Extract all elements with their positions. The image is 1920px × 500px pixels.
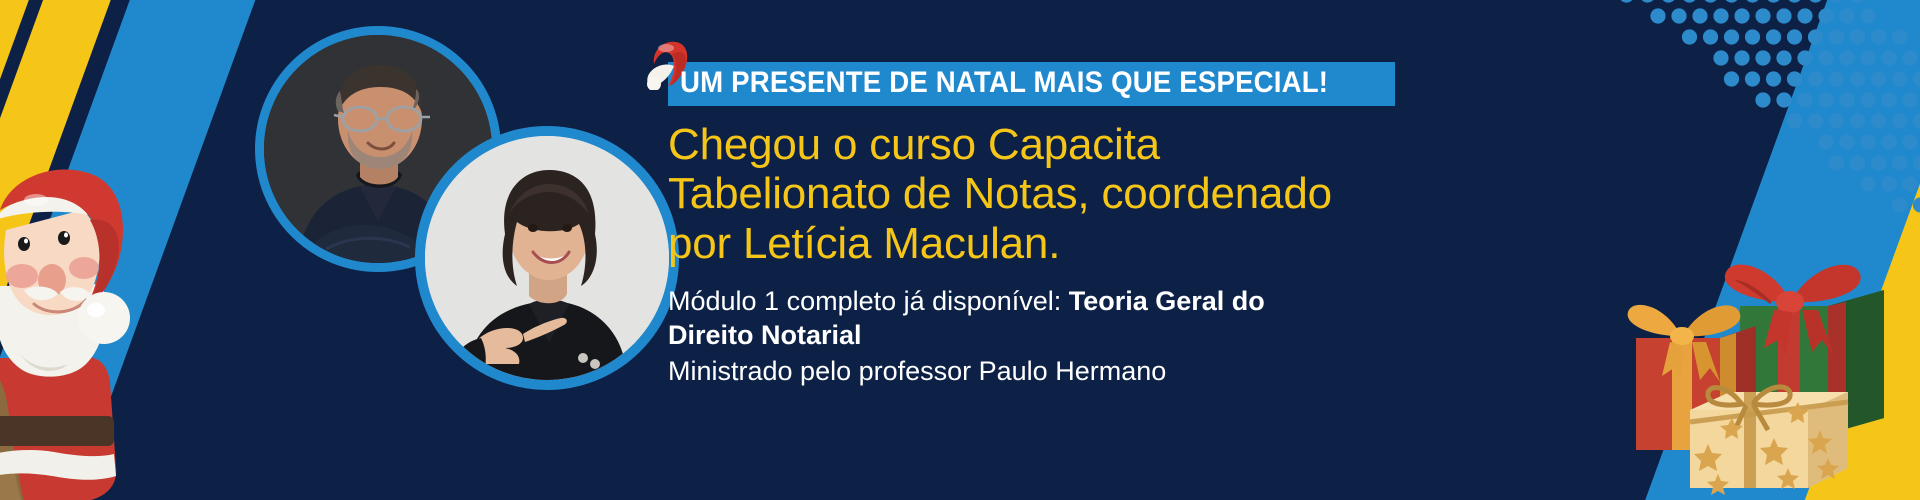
- module-prefix-label: Módulo 1 completo já disponível:: [668, 286, 1069, 316]
- right-decoration: [1450, 0, 1920, 500]
- christmas-gift-boxes-illustration: [1622, 206, 1912, 500]
- santa-claus-illustration: [0, 168, 153, 500]
- headline-badge: UM PRESENTE DE NATAL MAIS QUE ESPECIAL!: [668, 62, 1395, 106]
- subhead-text: Chegou o curso Capacita Tabelionato de N…: [668, 120, 1368, 268]
- module-availability-text: Módulo 1 completo já disponível: Teoria …: [668, 284, 1328, 352]
- headline-label: UM PRESENTE DE NATAL MAIS QUE ESPECIAL!: [680, 68, 1328, 98]
- christmas-course-banner: UM PRESENTE DE NATAL MAIS QUE ESPECIAL! …: [0, 0, 1920, 500]
- professor-label: Ministrado pelo professor Paulo Hermano: [668, 354, 1428, 388]
- instructor-portraits: [250, 14, 660, 384]
- banner-text-content: UM PRESENTE DE NATAL MAIS QUE ESPECIAL! …: [668, 62, 1428, 388]
- portrait-female-coordinator: [415, 126, 679, 390]
